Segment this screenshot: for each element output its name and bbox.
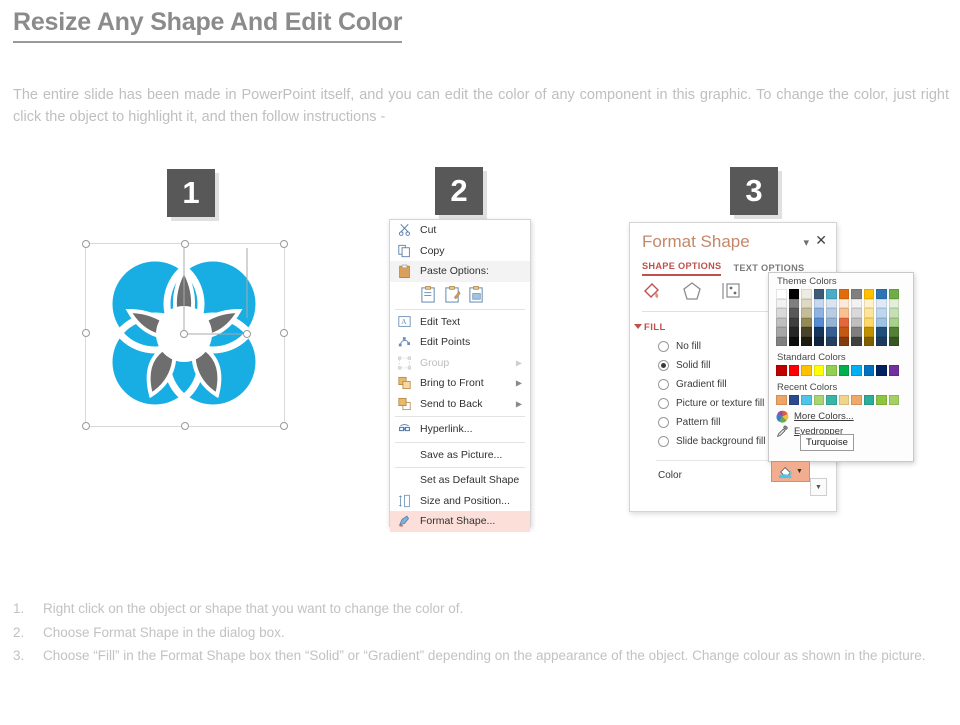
- menu-item-paste-options[interactable]: Paste Options:: [390, 261, 530, 282]
- menu-item-label: Send to Back: [420, 398, 482, 410]
- theme-swatch[interactable]: [851, 308, 862, 318]
- theme-swatch[interactable]: [776, 299, 787, 309]
- recent-swatch[interactable]: [889, 395, 900, 406]
- instructions-list: 1. Right click on the object or shape th…: [13, 598, 943, 669]
- color-label: Color: [658, 470, 682, 481]
- theme-swatch[interactable]: [839, 318, 850, 328]
- resize-handle-nw[interactable]: [82, 240, 90, 248]
- menu-item-set-default-shape[interactable]: Set as Default Shape: [390, 470, 530, 491]
- theme-color-column: [814, 289, 825, 346]
- recent-swatch[interactable]: [864, 395, 875, 406]
- radio-label: Slide background fill: [676, 436, 766, 447]
- standard-swatch[interactable]: [801, 365, 812, 376]
- theme-swatch[interactable]: [889, 327, 900, 337]
- recent-colors-label: Recent Colors: [769, 376, 913, 395]
- list-item-text: Right click on the object or shape that …: [43, 598, 943, 621]
- list-item: 3. Choose “Fill” in the Format Shape box…: [13, 645, 943, 668]
- list-item: 2. Choose Format Shape in the dialog box…: [13, 622, 943, 645]
- theme-colors-label: Theme Colors: [769, 273, 913, 289]
- radio-pattern-fill[interactable]: Pattern fill: [658, 413, 766, 432]
- theme-swatch[interactable]: [814, 308, 825, 318]
- menu-item-label: Format Shape...: [420, 515, 495, 527]
- size-position-icon: [397, 493, 412, 508]
- recent-swatch[interactable]: [814, 395, 825, 406]
- menu-item-label: Cut: [420, 224, 436, 236]
- pane-minimize-icon[interactable]: ▾: [803, 236, 809, 249]
- resize-handle-sw[interactable]: [82, 422, 90, 430]
- theme-colors-grid[interactable]: [769, 289, 913, 346]
- standard-colors-label: Standard Colors: [769, 346, 913, 365]
- menu-item-label: Edit Text: [420, 316, 460, 328]
- slide-canvas: Resize Any Shape And Edit Color The enti…: [0, 0, 960, 720]
- theme-swatch[interactable]: [789, 337, 800, 347]
- menu-item-edit-points[interactable]: Edit Points: [390, 332, 530, 353]
- theme-swatch[interactable]: [801, 299, 812, 309]
- theme-swatch[interactable]: [839, 299, 850, 309]
- radio-label: Pattern fill: [676, 417, 720, 428]
- radio-indicator: [658, 379, 669, 390]
- recent-colors-row[interactable]: [769, 395, 913, 406]
- theme-color-column: [776, 289, 787, 346]
- menu-divider: [395, 416, 525, 417]
- menu-item-hyperlink[interactable]: Hyperlink...: [390, 419, 530, 440]
- theme-swatch[interactable]: [851, 318, 862, 328]
- theme-swatch[interactable]: [839, 327, 850, 337]
- resize-handle-e[interactable]: [280, 329, 288, 337]
- recent-swatch[interactable]: [851, 395, 862, 406]
- menu-item-label: Set as Default Shape: [420, 474, 519, 486]
- paste-merge-formatting-icon[interactable]: [444, 286, 461, 303]
- radio-solid-fill[interactable]: Solid fill: [658, 356, 766, 375]
- list-item-number: 3.: [13, 645, 43, 668]
- menu-item-label: Save as Picture...: [420, 449, 502, 461]
- resize-handle-se[interactable]: [280, 422, 288, 430]
- theme-swatch[interactable]: [801, 289, 812, 299]
- fill-collapse-icon[interactable]: [634, 324, 642, 329]
- standard-swatch[interactable]: [814, 365, 825, 376]
- theme-swatch[interactable]: [801, 318, 812, 328]
- theme-swatch[interactable]: [826, 299, 837, 309]
- theme-swatch[interactable]: [776, 337, 787, 347]
- theme-color-column: [864, 289, 875, 346]
- resize-handle-ne[interactable]: [280, 240, 288, 248]
- menu-item-bring-to-front[interactable]: Bring to Front ▶: [390, 373, 530, 394]
- edit-points-icon: [397, 335, 412, 350]
- pane-title: Format Shape: [642, 232, 750, 252]
- theme-swatch[interactable]: [826, 318, 837, 328]
- pane-icon-row[interactable]: [642, 281, 742, 301]
- theme-swatch[interactable]: [814, 299, 825, 309]
- paste-options-row[interactable]: [390, 282, 530, 307]
- theme-swatch[interactable]: [839, 289, 850, 299]
- standard-swatch[interactable]: [789, 365, 800, 376]
- menu-item-label: Hyperlink...: [420, 423, 473, 435]
- menu-divider: [395, 442, 525, 443]
- menu-item-size-and-position[interactable]: Size and Position...: [390, 491, 530, 512]
- menu-item-label: Group: [420, 357, 449, 369]
- theme-swatch[interactable]: [851, 299, 862, 309]
- theme-swatch[interactable]: [826, 327, 837, 337]
- resize-handle-s[interactable]: [181, 422, 189, 430]
- theme-swatch[interactable]: [789, 299, 800, 309]
- recent-swatch[interactable]: [839, 395, 850, 406]
- theme-swatch[interactable]: [801, 327, 812, 337]
- standard-swatch[interactable]: [826, 365, 837, 376]
- standard-swatch[interactable]: [864, 365, 875, 376]
- page-title: Resize Any Shape And Edit Color: [13, 8, 402, 43]
- clipboard-icon: [397, 264, 412, 279]
- menu-item-label: Copy: [420, 245, 445, 257]
- theme-swatch[interactable]: [864, 327, 875, 337]
- step-badge-1: 1: [167, 169, 215, 217]
- theme-swatch[interactable]: [851, 327, 862, 337]
- theme-swatch[interactable]: [889, 308, 900, 318]
- theme-swatch[interactable]: [864, 299, 875, 309]
- theme-color-column: [789, 289, 800, 346]
- recent-swatch[interactable]: [776, 395, 787, 406]
- list-item-number: 1.: [13, 598, 43, 621]
- group-icon: [397, 355, 412, 370]
- submenu-arrow-icon: ▶: [516, 358, 522, 367]
- recent-swatch[interactable]: [826, 395, 837, 406]
- fill-color-button[interactable]: ▼: [771, 461, 810, 482]
- resize-handle-w[interactable]: [82, 329, 90, 337]
- fill-and-line-icon[interactable]: [642, 281, 664, 301]
- menu-item-edit-text[interactable]: A Edit Text: [390, 312, 530, 333]
- fill-section-header: FILL: [644, 322, 666, 333]
- theme-color-column: [851, 289, 862, 346]
- format-shape-icon: [397, 514, 412, 529]
- theme-swatch[interactable]: [826, 289, 837, 299]
- theme-swatch[interactable]: [876, 299, 887, 309]
- theme-swatch[interactable]: [876, 318, 887, 328]
- theme-swatch[interactable]: [876, 327, 887, 337]
- resize-handle-n[interactable]: [181, 240, 189, 248]
- theme-swatch[interactable]: [876, 337, 887, 347]
- effects-icon[interactable]: [681, 281, 703, 301]
- edit-text-icon: A: [397, 314, 412, 329]
- menu-divider: [395, 309, 525, 310]
- list-item: 1. Right click on the object or shape th…: [13, 598, 943, 621]
- theme-swatch[interactable]: [789, 327, 800, 337]
- radio-picture-or-texture-fill[interactable]: Picture or texture fill: [658, 394, 766, 413]
- send-to-back-icon: [397, 396, 412, 411]
- theme-swatch[interactable]: [826, 337, 837, 347]
- radio-indicator: [658, 398, 669, 409]
- fill-options-group[interactable]: No fill Solid fill Gradient fill Picture…: [658, 337, 766, 451]
- paste-keep-formatting-icon[interactable]: [420, 286, 437, 303]
- standard-swatch[interactable]: [889, 365, 900, 376]
- recent-swatch[interactable]: [789, 395, 800, 406]
- menu-divider: [395, 467, 525, 468]
- radio-label: Picture or texture fill: [676, 398, 764, 409]
- menu-item-format-shape[interactable]: Format Shape...: [390, 511, 530, 532]
- step-badge-2: 2: [435, 167, 483, 215]
- theme-swatch[interactable]: [851, 337, 862, 347]
- theme-swatch[interactable]: [801, 337, 812, 347]
- theme-swatch[interactable]: [851, 289, 862, 299]
- hyperlink-icon: [397, 422, 412, 437]
- theme-swatch[interactable]: [789, 308, 800, 318]
- radio-indicator: [658, 417, 669, 428]
- recent-swatch[interactable]: [801, 395, 812, 406]
- menu-item-copy[interactable]: Copy: [390, 241, 530, 262]
- standard-swatch[interactable]: [839, 365, 850, 376]
- theme-swatch[interactable]: [864, 318, 875, 328]
- radio-indicator: [658, 341, 669, 352]
- paste-picture-icon[interactable]: [468, 286, 485, 303]
- theme-swatch[interactable]: [864, 289, 875, 299]
- radio-label: No fill: [676, 341, 701, 352]
- close-icon[interactable]: ✕: [815, 232, 827, 249]
- transparency-spinner[interactable]: ▼: [810, 478, 827, 496]
- chevron-down-icon[interactable]: ▼: [796, 468, 803, 475]
- more-colors-item[interactable]: More Colors...: [769, 409, 913, 424]
- menu-item-cut[interactable]: Cut: [390, 220, 530, 241]
- svg-text:A: A: [401, 317, 407, 326]
- theme-swatch[interactable]: [864, 308, 875, 318]
- bring-to-front-icon: [397, 376, 412, 391]
- theme-swatch[interactable]: [889, 337, 900, 347]
- list-item-text: Choose Format Shape in the dialog box.: [43, 622, 943, 645]
- menu-item-group: Group ▶: [390, 353, 530, 374]
- theme-swatch[interactable]: [789, 318, 800, 328]
- paint-bucket-icon: [778, 465, 794, 479]
- radio-indicator: [658, 436, 669, 447]
- theme-swatch[interactable]: [814, 337, 825, 347]
- theme-swatch[interactable]: [889, 318, 900, 328]
- chevron-down-icon: ▼: [815, 484, 822, 491]
- menu-item-send-to-back[interactable]: Send to Back ▶: [390, 394, 530, 415]
- theme-swatch[interactable]: [876, 308, 887, 318]
- submenu-arrow-icon: ▶: [516, 379, 522, 388]
- menu-item-label: Edit Points: [420, 336, 470, 348]
- standard-colors-row[interactable]: [769, 365, 913, 376]
- menu-item-label: Bring to Front: [420, 377, 484, 389]
- step-badge-3: 3: [730, 167, 778, 215]
- eyedropper-icon: [776, 425, 789, 438]
- radio-indicator: [658, 360, 669, 371]
- list-item-text: Choose “Fill” in the Format Shape box th…: [43, 645, 943, 668]
- theme-swatch[interactable]: [864, 337, 875, 347]
- theme-swatch[interactable]: [776, 308, 787, 318]
- scissors-icon: [397, 223, 412, 238]
- menu-item-label: Size and Position...: [420, 495, 510, 507]
- color-wheel-icon: [776, 410, 789, 423]
- standard-swatch[interactable]: [851, 365, 862, 376]
- theme-color-column: [826, 289, 837, 346]
- theme-swatch[interactable]: [814, 289, 825, 299]
- context-menu[interactable]: Cut Copy Paste Options:: [389, 219, 531, 527]
- radio-gradient-fill[interactable]: Gradient fill: [658, 375, 766, 394]
- menu-item-label: Paste Options:: [420, 265, 489, 277]
- submenu-arrow-icon: ▶: [516, 399, 522, 408]
- theme-color-column: [876, 289, 887, 346]
- theme-swatch[interactable]: [889, 289, 900, 299]
- theme-swatch[interactable]: [801, 308, 812, 318]
- intro-paragraph: The entire slide has been made in PowerP…: [13, 84, 949, 128]
- menu-item-save-as-picture[interactable]: Save as Picture...: [390, 445, 530, 466]
- theme-swatch[interactable]: [839, 308, 850, 318]
- list-item-number: 2.: [13, 622, 43, 645]
- theme-color-column: [839, 289, 850, 346]
- size-and-properties-icon[interactable]: [720, 281, 742, 301]
- theme-swatch[interactable]: [839, 337, 850, 347]
- theme-swatch[interactable]: [814, 318, 825, 328]
- theme-swatch[interactable]: [826, 308, 837, 318]
- radio-label: Gradient fill: [676, 379, 727, 390]
- theme-swatch[interactable]: [814, 327, 825, 337]
- radio-no-fill[interactable]: No fill: [658, 337, 766, 356]
- theme-swatch[interactable]: [876, 289, 887, 299]
- theme-swatch[interactable]: [776, 289, 787, 299]
- theme-swatch[interactable]: [889, 299, 900, 309]
- pane-active-caret: [648, 305, 662, 311]
- radio-slide-background-fill[interactable]: Slide background fill: [658, 432, 766, 451]
- theme-color-column: [889, 289, 900, 346]
- color-tooltip: Turquoise: [800, 434, 854, 451]
- standard-swatch[interactable]: [776, 365, 787, 376]
- theme-swatch[interactable]: [776, 318, 787, 328]
- radio-label: Solid fill: [676, 360, 710, 371]
- recent-swatch[interactable]: [876, 395, 887, 406]
- more-colors-label: More Colors...: [794, 411, 854, 422]
- standard-swatch[interactable]: [876, 365, 887, 376]
- theme-swatch[interactable]: [776, 327, 787, 337]
- tab-shape-options[interactable]: SHAPE OPTIONS: [642, 261, 721, 276]
- copy-icon: [397, 243, 412, 258]
- theme-color-column: [801, 289, 812, 346]
- theme-swatch[interactable]: [789, 289, 800, 299]
- flower-shape-graphic[interactable]: [92, 248, 276, 420]
